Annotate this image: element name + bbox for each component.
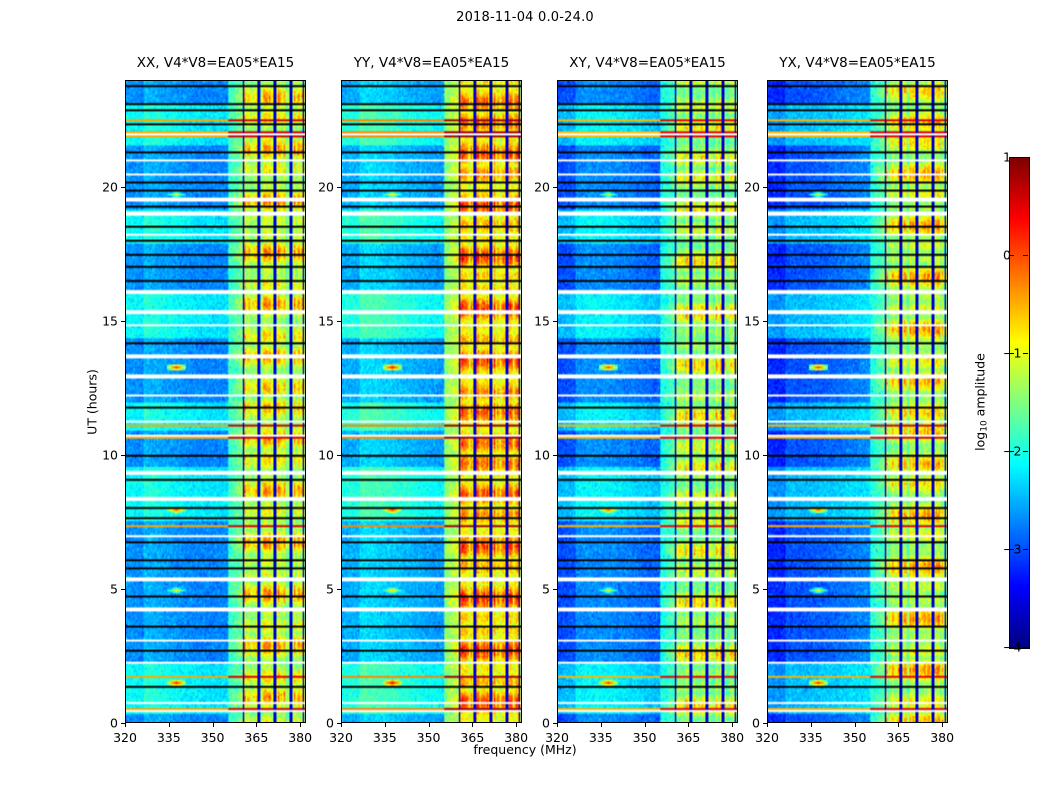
x-tick-label: 380 [720, 730, 744, 745]
x-tick-mark [688, 723, 689, 727]
y-tick-mark [337, 455, 341, 456]
y-tick-label: 0 [326, 716, 334, 731]
panel-axes [767, 80, 948, 723]
colorbar-tick-mark [1009, 255, 1014, 256]
y-tick-label: 10 [318, 448, 334, 463]
figure-canvas: 2018-11-04 0.0-24.0 UT (hours) frequency… [0, 0, 1050, 800]
x-tick-label: 350 [201, 730, 225, 745]
colorbar-tick-mark [1023, 549, 1028, 550]
waterfall-image [126, 81, 306, 723]
colorbar-tick-mark [1023, 157, 1028, 158]
x-tick-mark [732, 723, 733, 727]
x-tick-label: 335 [589, 730, 613, 745]
x-tick-label: 320 [545, 730, 569, 745]
y-tick-label: 20 [744, 180, 760, 195]
x-tick-mark [472, 723, 473, 727]
x-tick-label: 380 [930, 730, 954, 745]
y-tick-label: 15 [102, 314, 118, 329]
x-tick-mark [125, 723, 126, 727]
colorbar-tick-mark [1023, 647, 1028, 648]
y-tick-mark [337, 321, 341, 322]
colorbar-label: log10 amplitude [972, 353, 989, 451]
x-tick-mark [855, 723, 856, 727]
x-tick-label: 365 [676, 730, 700, 745]
y-tick-mark [763, 455, 767, 456]
x-tick-mark [898, 723, 899, 727]
figure-suptitle: 2018-11-04 0.0-24.0 [0, 10, 1050, 25]
colorbar-tick-mark [1009, 451, 1014, 452]
x-tick-label: 350 [417, 730, 441, 745]
waterfall-panel-yx: YX, V4*V8=EA05*EA15051015203203353503653… [767, 80, 948, 723]
y-tick-label: 15 [744, 314, 760, 329]
x-tick-mark [645, 723, 646, 727]
colorbar [1009, 157, 1030, 649]
y-tick-label: 15 [318, 314, 334, 329]
panel-title: YX, V4*V8=EA05*EA15 [779, 55, 935, 71]
x-tick-label: 335 [799, 730, 823, 745]
panel-axes [557, 80, 738, 723]
y-tick-mark [553, 321, 557, 322]
panel-axes [125, 80, 306, 723]
y-tick-label: 20 [534, 180, 550, 195]
x-tick-label: 335 [373, 730, 397, 745]
y-tick-label: 10 [534, 448, 550, 463]
y-tick-label: 0 [752, 716, 760, 731]
x-tick-label: 335 [157, 730, 181, 745]
panel-title: YY, V4*V8=EA05*EA15 [354, 55, 509, 71]
x-tick-mark [516, 723, 517, 727]
x-tick-label: 350 [633, 730, 657, 745]
x-tick-label: 320 [113, 730, 137, 745]
colorbar-tick-mark [1009, 353, 1014, 354]
x-tick-mark [385, 723, 386, 727]
x-tick-mark [213, 723, 214, 727]
y-tick-label: 20 [318, 180, 334, 195]
x-tick-label: 365 [244, 730, 268, 745]
y-tick-mark [337, 589, 341, 590]
x-tick-mark [256, 723, 257, 727]
y-tick-label: 15 [534, 314, 550, 329]
panel-axes [341, 80, 522, 723]
y-tick-label: 0 [110, 716, 118, 731]
y-tick-label: 5 [110, 582, 118, 597]
y-tick-label: 5 [326, 582, 334, 597]
y-tick-label: 20 [102, 180, 118, 195]
panel-title: XX, V4*V8=EA05*EA15 [137, 55, 294, 71]
y-tick-mark [121, 321, 125, 322]
y-tick-label: 5 [752, 582, 760, 597]
colorbar-tick-mark [1009, 549, 1014, 550]
y-tick-mark [121, 589, 125, 590]
x-tick-mark [300, 723, 301, 727]
x-tick-mark [767, 723, 768, 727]
x-tick-label: 380 [288, 730, 312, 745]
x-tick-label: 320 [755, 730, 779, 745]
y-tick-mark [337, 187, 341, 188]
y-tick-mark [121, 455, 125, 456]
y-tick-mark [553, 589, 557, 590]
x-tick-mark [169, 723, 170, 727]
colorbar-tick-mark [1023, 451, 1028, 452]
waterfall-image [558, 81, 738, 723]
panel-title: XY, V4*V8=EA05*EA15 [569, 55, 725, 71]
x-tick-label: 320 [329, 730, 353, 745]
colorbar-tick-mark [1009, 157, 1014, 158]
y-tick-mark [763, 187, 767, 188]
y-tick-label: 0 [542, 716, 550, 731]
x-tick-label: 365 [460, 730, 484, 745]
x-tick-label: 365 [886, 730, 910, 745]
y-tick-label: 10 [102, 448, 118, 463]
y-axis-label: UT (hours) [85, 369, 100, 435]
y-tick-label: 10 [744, 448, 760, 463]
y-tick-label: 5 [542, 582, 550, 597]
x-tick-mark [811, 723, 812, 727]
colorbar-tick-mark [1023, 353, 1028, 354]
y-tick-mark [763, 321, 767, 322]
y-tick-mark [553, 455, 557, 456]
x-tick-mark [942, 723, 943, 727]
waterfall-image [342, 81, 522, 723]
waterfall-panel-yy: YY, V4*V8=EA05*EA15051015203203353503653… [341, 80, 522, 723]
x-tick-label: 350 [843, 730, 867, 745]
x-tick-mark [341, 723, 342, 727]
waterfall-image [768, 81, 948, 723]
y-tick-mark [763, 589, 767, 590]
x-tick-mark [429, 723, 430, 727]
waterfall-panel-xx: XX, V4*V8=EA05*EA15051015203203353503653… [125, 80, 306, 723]
colorbar-tick-mark [1009, 647, 1014, 648]
x-tick-mark [557, 723, 558, 727]
waterfall-panel-xy: XY, V4*V8=EA05*EA15051015203203353503653… [557, 80, 738, 723]
x-tick-mark [601, 723, 602, 727]
y-tick-mark [121, 187, 125, 188]
y-tick-mark [553, 187, 557, 188]
x-tick-label: 380 [504, 730, 528, 745]
colorbar-tick-mark [1023, 255, 1028, 256]
